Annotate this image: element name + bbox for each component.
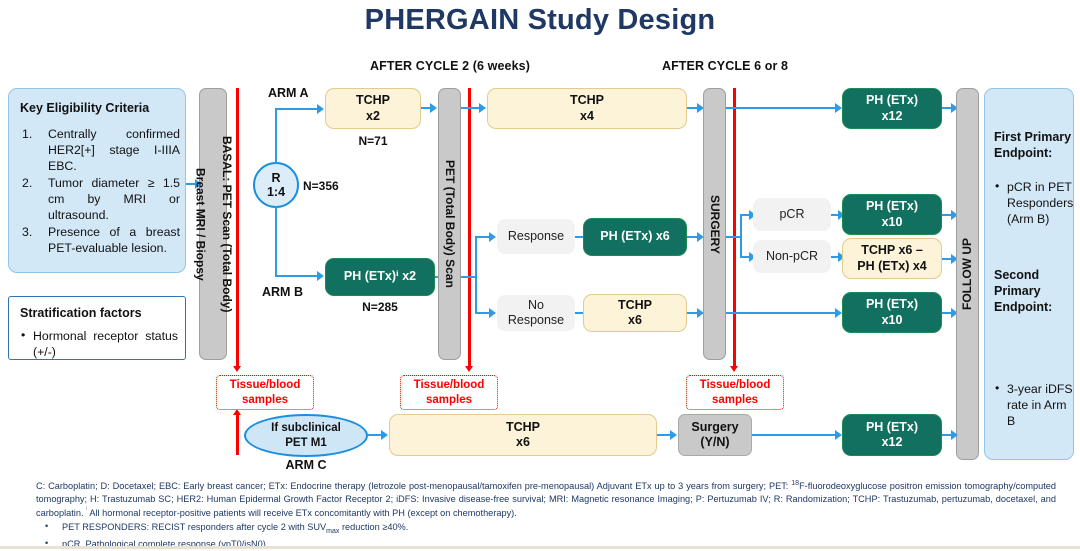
arrowhead-surgery-arm-a-adjuvant <box>835 103 842 113</box>
connector-r-down <box>275 206 277 277</box>
eligibility-item-1-text: Centrally confirmed HER2[+] stage I-IIIA… <box>48 127 180 173</box>
connector-surgery-pcr-branch <box>726 236 740 238</box>
arm-c-adjuvant-line2: x12 <box>882 435 903 449</box>
arm-b-induction-n: N=285 <box>325 300 435 314</box>
responder-treatment-label: PH (ETx) x6 <box>600 229 669 244</box>
connector-surgery-arm-a-adjuvant <box>726 107 838 109</box>
no-response-line2: Response <box>508 313 564 327</box>
arm-b-induction-text: PH (ETx)ⁱ x2 <box>344 269 416 284</box>
footnote-bullet1-pre: PET RESPONDERS: RECIST responders after … <box>62 522 326 532</box>
timeline-rule-basal <box>236 88 239 366</box>
nonpcr-adjuvant-line2: PH (ETx) x4 <box>857 259 926 273</box>
footnote-bullet1-sub: max <box>326 528 339 535</box>
box-arm-c-adjuvant: PH (ETx) x12 <box>842 414 942 456</box>
stage-bar-followup-label: FOLLOW UP <box>961 238 974 310</box>
stratification-panel: Stratification factors Hormonal receptor… <box>8 296 186 360</box>
nonresponder-treatment-line2: x6 <box>628 313 642 327</box>
connector-surgery-nonresponder-adjuvant <box>726 312 838 314</box>
eligibility-item-3-text: Presence of a breast PET-evaluable lesio… <box>48 225 180 255</box>
randomization-total-n: N=356 <box>303 179 363 193</box>
box-pcr: pCR <box>753 198 831 231</box>
bottom-rule <box>0 546 1080 549</box>
timeline-arrow-basal <box>233 366 241 372</box>
box-nonpcr: Non-pCR <box>753 240 831 273</box>
box-arm-c-treatment: TCHP x6 <box>389 414 657 456</box>
arm-c-label: ARM C <box>244 458 368 472</box>
second-endpoint-text: 3-year iDFS rate in Arm B <box>994 382 1074 430</box>
connector-arm-b <box>275 275 317 277</box>
arm-a-adjuvant-line1: PH (ETx) <box>866 93 918 107</box>
arm-a-continue-line2: x4 <box>580 109 594 123</box>
connector-r-up <box>275 108 277 164</box>
eligibility-item-1: 1. Centrally confirmed HER2[+] stage I-I… <box>18 127 180 175</box>
box-arm-c-induction: If subclinical PET M1 <box>244 414 368 457</box>
box-arm-a-continue: TCHP x4 <box>487 88 687 129</box>
arm-c-tx-line2: x6 <box>516 435 530 449</box>
arm-a-adjuvant-line2: x12 <box>882 109 903 123</box>
connector-arm-c-adjuvant <box>752 434 838 436</box>
stratification-heading: Stratification factors <box>20 306 178 320</box>
endpoints-panel: First PrimaryEndpoint: pCR in PET Respon… <box>984 88 1074 460</box>
sample-box-basal: Tissue/blood samples <box>216 375 314 410</box>
first-endpoint-text: pCR in PET Responders (Arm B) <box>994 180 1074 228</box>
arrowhead-arm-c-tchp <box>381 430 388 440</box>
arm-c-surgery-line1: Surgery <box>691 420 738 434</box>
eligibility-item-3-num: 3. <box>22 225 32 241</box>
eligibility-item-1-num: 1. <box>22 127 32 143</box>
box-arm-c-surgery: Surgery (Y/N) <box>678 414 752 456</box>
box-pcr-adjuvant: PH (ETx) x10 <box>842 194 942 235</box>
box-nonresponder-treatment: TCHP x6 <box>583 294 687 332</box>
box-arm-b-induction: PH (ETx)ⁱ x2 <box>325 258 435 296</box>
pcr-adjuvant-line1: PH (ETx) <box>866 199 918 213</box>
sample-box-surgery: Tissue/blood samples <box>686 375 784 410</box>
connector-responder-surgery <box>687 236 697 238</box>
arm-c-induction-line2: PET M1 <box>285 437 327 449</box>
stage-bar-surgery-label: SURGERY <box>708 195 721 254</box>
footnote-abbreviations: C: Carboplatin; D: Docetaxel; EBC: Early… <box>36 479 1056 520</box>
eligibility-item-3: 3. Presence of a breast PET-evaluable le… <box>18 225 180 257</box>
arrowhead-branch-no-response <box>489 308 496 318</box>
stage-bar-pet: PET (Total Body) Scan <box>438 88 461 360</box>
box-responder-treatment: PH (ETx) x6 <box>583 218 687 256</box>
pcr-label: pCR <box>779 207 804 222</box>
sample-basal-line1: Tissue/blood <box>230 379 301 391</box>
arrowhead-arm-a <box>317 104 324 114</box>
stage-bar-followup: FOLLOW UP <box>956 88 979 460</box>
header-after-cycle-2: AFTER CYCLE 2 (6 weeks) <box>355 59 545 73</box>
box-no-response: No Response <box>497 295 575 331</box>
connector-nonresponder-surgery <box>687 312 697 314</box>
arm-c-surgery-line2: (Y/N) <box>700 435 729 449</box>
second-endpoint-heading: SecondPrimaryEndpoint: <box>994 267 1072 315</box>
arm-a-continue-line1: TCHP <box>570 93 604 107</box>
no-response-line1: No <box>528 298 544 312</box>
arrowhead-arm-c-surgery <box>670 430 677 440</box>
arm-b-label: ARM B <box>262 285 303 299</box>
arrowhead-branch-response <box>489 232 496 242</box>
arm-a-induction-n: N=71 <box>325 134 421 148</box>
box-nonresponder-adjuvant: PH (ETx) x10 <box>842 292 942 333</box>
sample-surgery-line1: Tissue/blood <box>700 379 771 391</box>
arrowhead-pet-arm-a <box>479 103 486 113</box>
stage-bar-basal: BASAL: PET Scan (Total Body)Breast MRI /… <box>199 88 227 360</box>
page-title: PHERGAIN Study Design <box>0 4 1080 37</box>
randomization-label: R <box>271 171 280 185</box>
arm-c-induction-line1: If subclinical <box>271 422 341 434</box>
footnote-bullet1-post: reduction ≥40%. <box>339 522 408 532</box>
sample-box-pet: Tissue/blood samples <box>400 375 498 410</box>
footnote-abbrev-part3: All hormonal receptor-positive patients … <box>87 508 516 518</box>
eligibility-heading: Key Eligibility Criteria <box>20 101 178 115</box>
randomization-circle: R 1:4 <box>253 162 299 208</box>
eligibility-list: 1. Centrally confirmed HER2[+] stage I-I… <box>18 127 180 258</box>
first-endpoint-heading: First PrimaryEndpoint: <box>994 129 1072 161</box>
timeline-arrow-surgery <box>730 366 738 372</box>
connector-branch-response <box>475 236 489 238</box>
arm-a-label: ARM A <box>268 86 309 100</box>
pcr-adjuvant-line2: x10 <box>882 215 903 229</box>
connector-arm-a-to-pet <box>421 107 430 109</box>
nonresponder-adjuvant-line1: PH (ETx) <box>866 297 918 311</box>
eligibility-item-2: 2. Tumor diameter ≥ 1.5 cm by MRI or ult… <box>18 176 180 224</box>
arm-c-red-arrowhead <box>233 409 241 415</box>
timeline-arrow-pet <box>465 366 473 372</box>
stage-bar-surgery: SURGERY <box>703 88 726 360</box>
footnote-abbrev-sup: 18 <box>791 480 799 487</box>
box-response: Response <box>497 219 575 254</box>
timeline-rule-surgery <box>733 88 736 366</box>
footnote-abbrev-part1: C: Carboplatin; D: Docetaxel; EBC: Early… <box>36 481 791 491</box>
stage-bar-pet-label: PET (Total Body) Scan <box>443 160 456 288</box>
header-after-cycle-6-or-8: AFTER CYCLE 6 or 8 <box>630 59 820 73</box>
arrowhead-surgery-nonresponder-adjuvant <box>835 308 842 318</box>
eligibility-panel: Key Eligibility Criteria 1. Centrally co… <box>8 88 186 273</box>
nonresponder-treatment-line1: TCHP <box>618 298 652 312</box>
sample-basal-line2: samples <box>242 394 288 406</box>
randomization-ratio: 1:4 <box>267 185 285 199</box>
study-design-diagram: PHERGAIN Study Design AFTER CYCLE 2 (6 w… <box>0 0 1080 551</box>
nonresponder-adjuvant-line2: x10 <box>882 313 903 327</box>
arm-c-adjuvant-line1: PH (ETx) <box>866 420 918 434</box>
sample-pet-line2: samples <box>426 394 472 406</box>
connector-pcr-branch-vertical <box>740 214 742 258</box>
eligibility-item-2-num: 2. <box>22 176 32 192</box>
arrowhead-arm-a-to-pet <box>430 103 437 113</box>
connector-pet-branch <box>461 276 475 278</box>
sample-pet-line1: Tissue/blood <box>414 379 485 391</box>
connector-arm-c-surgery <box>657 434 671 436</box>
connector-branch-vertical <box>475 236 477 314</box>
connector-tchp4-surgery <box>687 107 697 109</box>
nonpcr-adjuvant-line1: TCHP x6 – <box>861 243 923 257</box>
nonpcr-label: Non-pCR <box>766 249 818 264</box>
arm-c-tx-line1: TCHP <box>506 420 540 434</box>
arrowhead-arm-c-adjuvant <box>835 430 842 440</box>
connector-arm-a <box>275 108 317 110</box>
arm-a-induction-line1: TCHP <box>356 93 390 107</box>
arrowhead-arm-c-adjuvant-followup <box>951 430 958 440</box>
arm-c-red-rule <box>236 415 239 455</box>
stage-bar-basal-label: BASAL: PET Scan (Total Body)Breast MRI /… <box>193 136 233 312</box>
box-arm-a-adjuvant: PH (ETx) x12 <box>842 88 942 129</box>
eligibility-item-2-text: Tumor diameter ≥ 1.5 cm by MRI or ultras… <box>48 176 180 222</box>
box-nonpcr-adjuvant: TCHP x6 – PH (ETx) x4 <box>842 238 942 279</box>
connector-arm-c-tchp <box>368 434 382 436</box>
footnotes: C: Carboplatin; D: Docetaxel; EBC: Early… <box>36 479 1056 551</box>
arm-a-induction-line2: x2 <box>366 109 380 123</box>
response-label: Response <box>508 229 564 244</box>
footnote-bullet-pet-responders: PET RESPONDERS: RECIST responders after … <box>36 521 1056 537</box>
box-arm-a-induction: TCHP x2 <box>325 88 421 129</box>
connector-branch-no-response <box>475 312 489 314</box>
sample-surgery-line2: samples <box>712 394 758 406</box>
stratification-item: Hormonal receptor status (+/-) <box>20 329 178 361</box>
arrowhead-arm-b <box>317 271 324 281</box>
timeline-rule-pet <box>468 88 471 366</box>
